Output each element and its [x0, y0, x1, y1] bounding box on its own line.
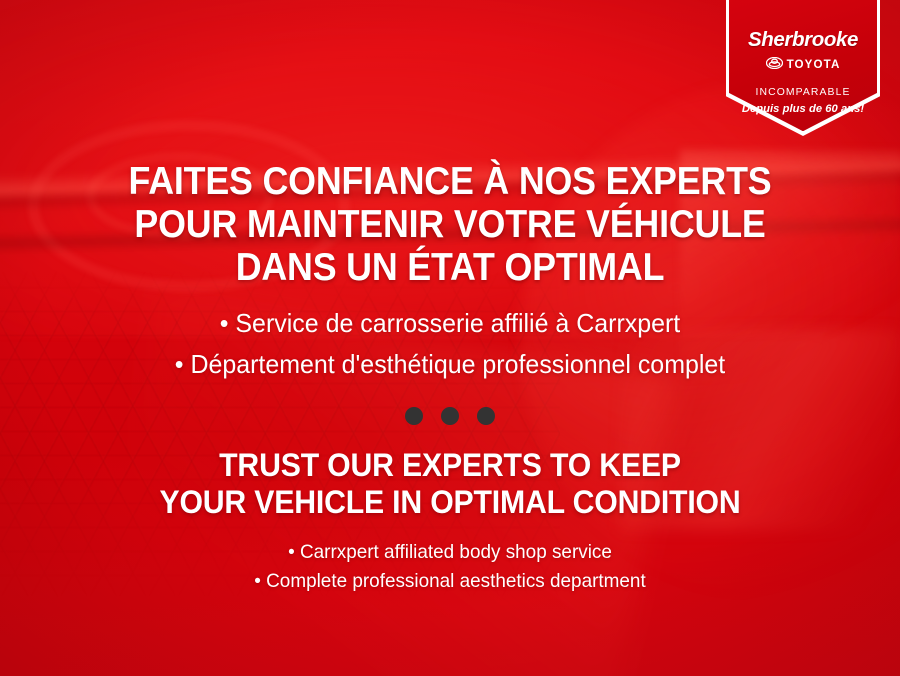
- bullet-list-french: • Service de carrosserie affilié à Carrx…: [0, 303, 900, 385]
- headline-french-line-1: FAITES CONFIANCE À NOS EXPERTS: [32, 160, 869, 203]
- promotional-poster: Sherbrooke TOYOTA INCOMPARABLE Depuis pl…: [0, 0, 900, 676]
- bullet-french-2: • Département d'esthétique professionnel…: [18, 344, 882, 385]
- headline-french: FAITES CONFIANCE À NOS EXPERTS POUR MAIN…: [0, 160, 900, 289]
- divider-dot-icon: [441, 407, 459, 425]
- bullet-english-2: • Complete professional aesthetics depar…: [14, 567, 887, 596]
- poster-content: FAITES CONFIANCE À NOS EXPERTS POUR MAIN…: [0, 0, 900, 676]
- headline-french-line-3: DANS UN ÉTAT OPTIMAL: [32, 246, 869, 289]
- divider-dot-icon: [405, 407, 423, 425]
- headline-english-line-2: YOUR VEHICLE IN OPTIMAL CONDITION: [32, 484, 869, 521]
- bullet-list-english: • Carrxpert affiliated body shop service…: [0, 538, 900, 596]
- headline-english-line-1: TRUST OUR EXPERTS TO KEEP: [32, 447, 869, 484]
- dot-divider: [0, 407, 900, 425]
- bullet-english-1: • Carrxpert affiliated body shop service: [14, 538, 887, 567]
- headline-english: TRUST OUR EXPERTS TO KEEP YOUR VEHICLE I…: [0, 447, 900, 521]
- divider-dot-icon: [477, 407, 495, 425]
- bullet-french-1: • Service de carrosserie affilié à Carrx…: [18, 303, 882, 344]
- headline-french-line-2: POUR MAINTENIR VOTRE VÉHICULE: [32, 203, 869, 246]
